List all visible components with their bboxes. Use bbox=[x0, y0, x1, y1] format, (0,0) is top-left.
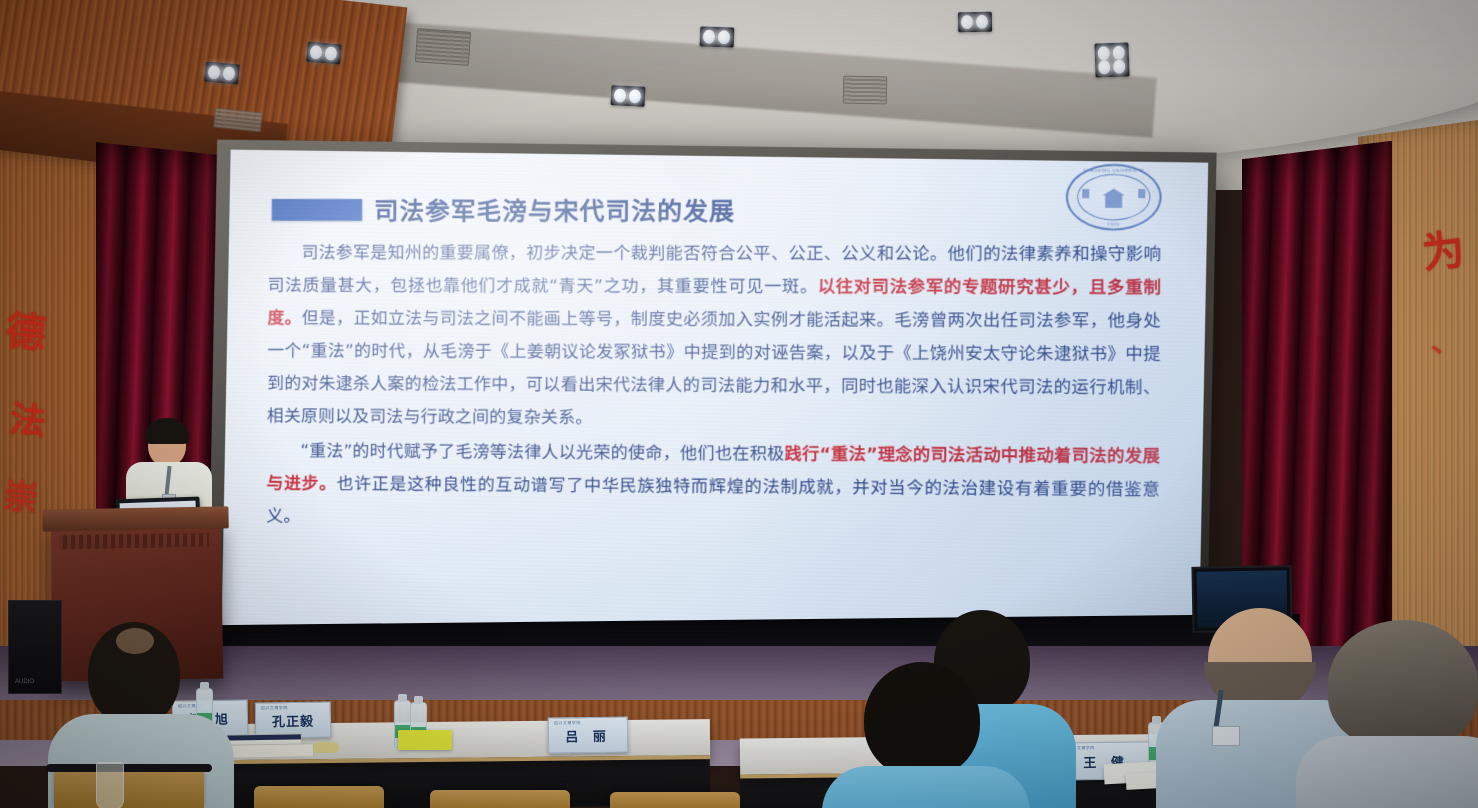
podium-carving bbox=[59, 533, 209, 550]
seal-square-left bbox=[1082, 189, 1089, 198]
presenter-hair bbox=[145, 418, 189, 444]
slide-paragraph-2: “重法”的时代赋予了毛滂等法律人以光荣的使命，他们也在积极践行“重法”理念的司法… bbox=[266, 435, 1160, 541]
wall-calligraphy-right-2: 、 bbox=[1428, 318, 1461, 361]
presentation-slide: SHAOXING UNIVERSITY 1909 司法参军毛滂与宋代司法的发展 … bbox=[225, 156, 1205, 655]
audience-bald-spot bbox=[116, 628, 154, 654]
ceiling-spotlight-icon bbox=[958, 12, 992, 33]
ceiling-spotlight-icon bbox=[700, 26, 735, 47]
ceiling-air-vent bbox=[415, 28, 471, 66]
namecard-name: 吕 丽 bbox=[565, 725, 611, 745]
projection-screen: SHAOXING UNIVERSITY 1909 司法参军毛滂与宋代司法的发展 … bbox=[221, 150, 1208, 662]
audience-member bbox=[838, 662, 1008, 808]
title-accent-bar bbox=[272, 199, 362, 221]
audience-shoulders bbox=[822, 766, 1030, 808]
seal-ring-text-top: SHAOXING UNIVERSITY bbox=[1078, 168, 1149, 173]
audience-head bbox=[1328, 620, 1478, 748]
audience-chair bbox=[54, 770, 204, 808]
drinking-glass bbox=[96, 762, 124, 808]
wall-calligraphy-left-1: 德 bbox=[3, 298, 49, 360]
audience-member bbox=[1310, 620, 1478, 808]
ceiling-air-vent bbox=[843, 76, 887, 105]
audience-head bbox=[864, 662, 980, 778]
wall-calligraphy-left-2: 法 bbox=[7, 390, 48, 445]
ceiling-spotlight-icon bbox=[610, 85, 645, 107]
slide-paragraph-1: 司法参军是知州的重要属僚，初步决定一个裁判能否符合公平、公正、公义和公论。他们的… bbox=[267, 237, 1162, 438]
conference-hall-photo: 德 法 崇 为 、 SHAOXING UNIVERSITY 1909 bbox=[0, 0, 1478, 808]
small-note bbox=[313, 742, 339, 753]
audience-shoulders bbox=[1296, 736, 1478, 808]
slide-body: 司法参军是知州的重要属僚，初步决定一个裁判能否符合公平、公正、公义和公论。他们的… bbox=[266, 237, 1161, 540]
yellow-notebook bbox=[398, 730, 452, 750]
paragraph-2-run-1: “重法”的时代赋予了毛滂等法律人以光荣的使命，他们也在积极 bbox=[300, 442, 784, 465]
audience-chair bbox=[610, 792, 740, 808]
paragraph-2-run-3: 也许正是这种良性的互动谱写了中华民族独特而辉煌的法制成就，并对当今的法治建设有着… bbox=[266, 474, 1160, 526]
slide-title-row: 司法参军毛滂与宋代司法的发展 bbox=[272, 192, 1178, 229]
ceiling-spotlight-icon bbox=[1094, 42, 1129, 77]
audience-chair bbox=[254, 786, 384, 808]
wall-calligraphy-right-1: 为 bbox=[1418, 216, 1467, 282]
ceiling-spotlight-icon bbox=[306, 42, 342, 65]
namecard-org: 绍兴文理学院 bbox=[261, 705, 288, 711]
namecard-name: 孔正毅 bbox=[272, 710, 314, 730]
university-seal-icon: SHAOXING UNIVERSITY 1909 bbox=[1066, 164, 1162, 231]
audience-badge bbox=[1212, 726, 1240, 746]
seal-ring-text-bottom: 1909 bbox=[1078, 221, 1149, 226]
paragraph-1-run-3: 但是，正如立法与司法之间不能画上等号，制度史必须加入实例才能活起来。毛滂曾两次出… bbox=[267, 309, 1161, 429]
namecard: 绍兴文理学院 吕 丽 bbox=[548, 716, 628, 753]
ceiling-spotlight-icon bbox=[204, 62, 240, 85]
slide-title: 司法参军毛滂与宋代司法的发展 bbox=[374, 192, 735, 228]
seal-building-icon bbox=[1100, 186, 1127, 208]
namecard-org: 绍兴文理学院 bbox=[554, 720, 581, 726]
stacked-books bbox=[226, 743, 314, 759]
audience-chair bbox=[430, 790, 570, 808]
projection-screen-frame: SHAOXING UNIVERSITY 1909 司法参军毛滂与宋代司法的发展 … bbox=[208, 140, 1217, 671]
loudspeaker-label: AUDIO bbox=[15, 679, 34, 685]
podium-top bbox=[42, 506, 228, 531]
seal-square-right bbox=[1138, 189, 1145, 198]
wall-calligraphy-left-3: 崇 bbox=[2, 468, 41, 520]
